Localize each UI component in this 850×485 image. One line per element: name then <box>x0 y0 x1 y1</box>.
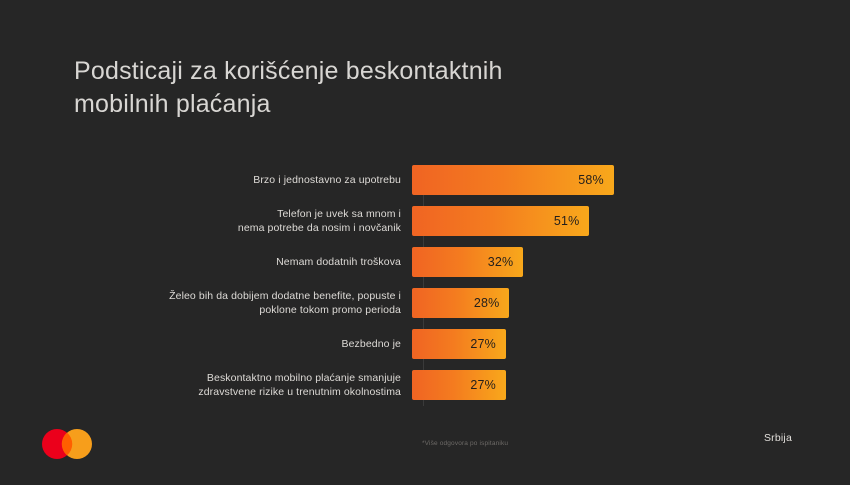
bar-track: 28% <box>412 283 774 323</box>
bar-fill: 27% <box>412 370 506 400</box>
table-row: Telefon je uvek sa mnom i nema potrebe d… <box>74 201 774 241</box>
bar-label: Nemam dodatnih troškova <box>74 255 412 269</box>
bar-track: 58% <box>412 160 774 200</box>
bar-track: 27% <box>412 365 774 405</box>
bar-chart: Brzo i jednostavno za upotrebu 58% Telef… <box>74 160 774 410</box>
bar-fill: 58% <box>412 165 614 195</box>
bar-label: Beskontaktno mobilno plaćanje smanjuje z… <box>74 371 412 400</box>
table-row: Bezbedno je 27% <box>74 324 774 364</box>
mastercard-logo <box>36 425 98 463</box>
table-row: Nemam dodatnih troškova 32% <box>74 242 774 282</box>
page-title: Podsticaji za korišćenje beskontaktnih m… <box>74 55 614 121</box>
bar-fill: 51% <box>412 206 589 236</box>
bar-value-label: 32% <box>488 255 514 269</box>
bar-value-label: 58% <box>578 173 604 187</box>
bar-track: 27% <box>412 324 774 364</box>
bar-fill: 32% <box>412 247 523 277</box>
bar-fill: 27% <box>412 329 506 359</box>
bar-label: Telefon je uvek sa mnom i nema potrebe d… <box>74 207 412 236</box>
bar-track: 32% <box>412 242 774 282</box>
footnote: *Više odgovora po ispitaniku <box>422 440 508 447</box>
bar-value-label: 28% <box>474 296 500 310</box>
bar-fill: 28% <box>412 288 509 318</box>
table-row: Želeo bih da dobijem dodatne benefite, p… <box>74 283 774 323</box>
table-row: Beskontaktno mobilno plaćanje smanjuje z… <box>74 365 774 405</box>
bar-value-label: 27% <box>470 337 496 351</box>
slide-canvas: Podsticaji za korišćenje beskontaktnih m… <box>0 0 850 485</box>
bar-label: Bezbedno je <box>74 337 412 351</box>
bar-label: Želeo bih da dobijem dodatne benefite, p… <box>74 289 412 318</box>
bar-rows: Brzo i jednostavno za upotrebu 58% Telef… <box>74 160 774 406</box>
country-label: Srbija <box>764 432 792 444</box>
bar-value-label: 51% <box>554 214 580 228</box>
table-row: Brzo i jednostavno za upotrebu 58% <box>74 160 774 200</box>
bar-value-label: 27% <box>470 378 496 392</box>
bar-label: Brzo i jednostavno za upotrebu <box>74 173 412 187</box>
bar-track: 51% <box>412 201 774 241</box>
